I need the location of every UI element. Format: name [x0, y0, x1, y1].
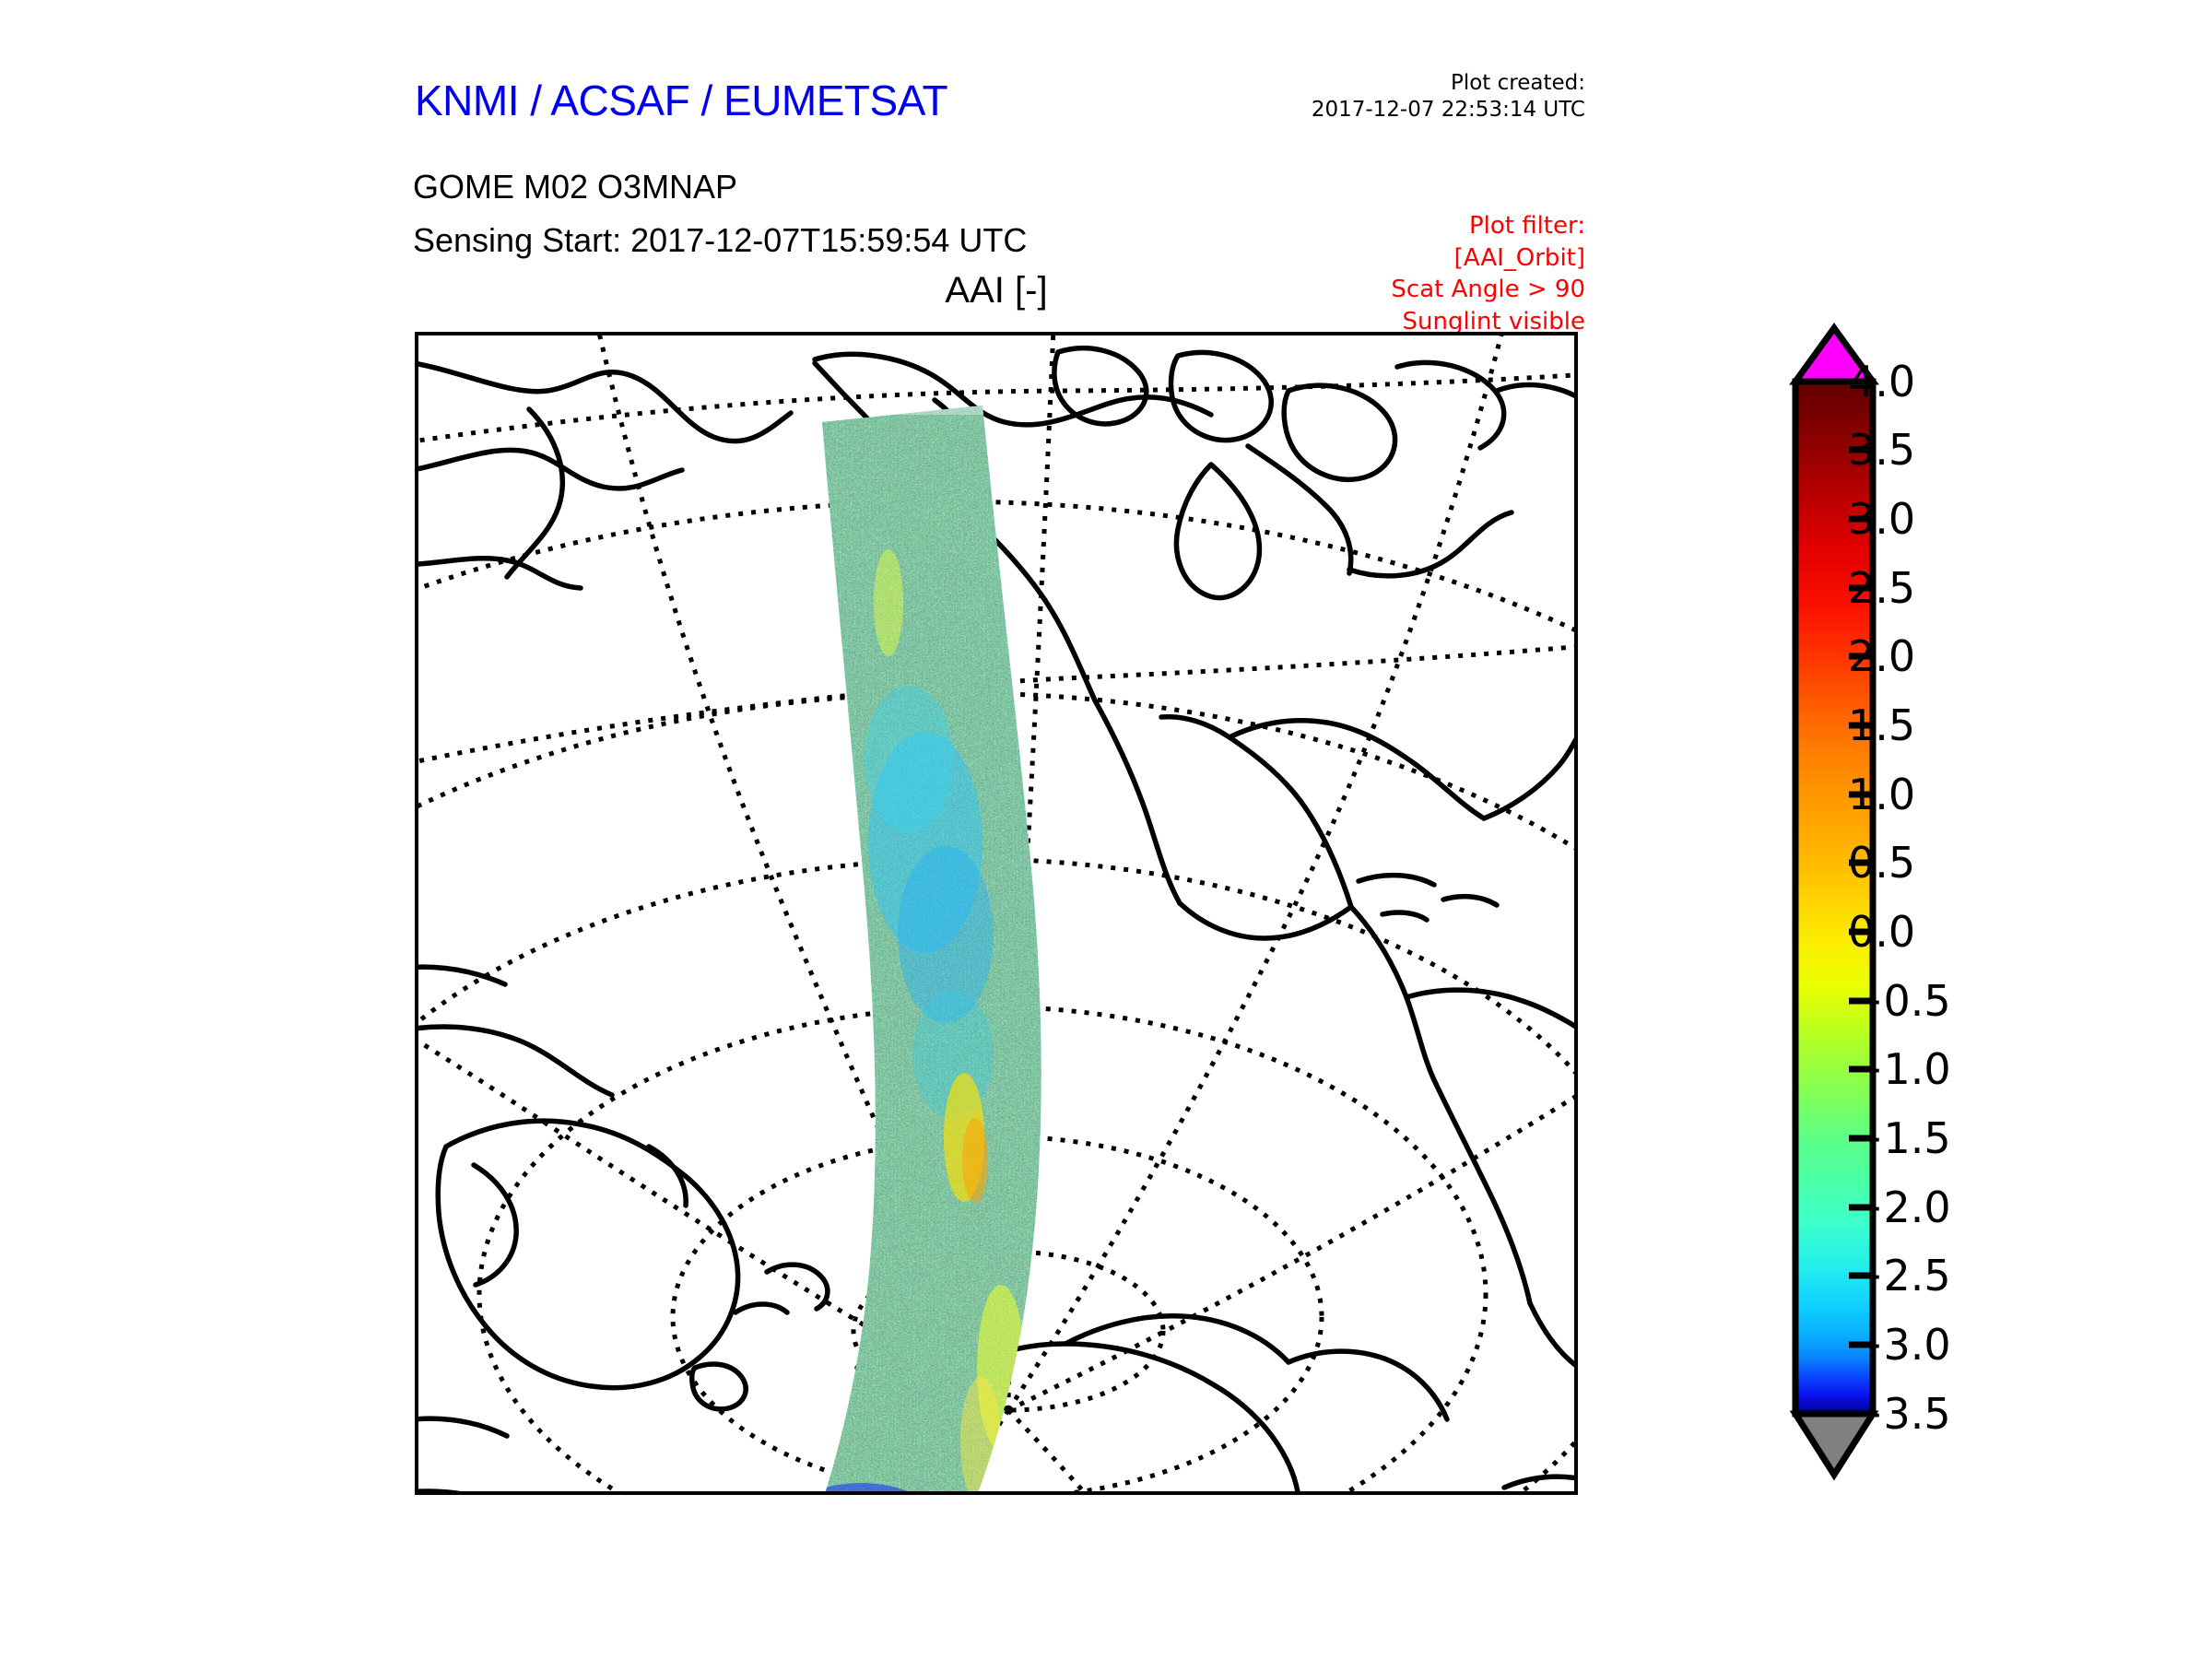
- plot-created-value: 2017-12-07 22:53:14 UTC: [1312, 97, 1585, 124]
- coastline-antarctic-peninsula: [1288, 1351, 1447, 1419]
- colorbar-tick-label: −1.5: [1848, 1113, 1951, 1163]
- coastline-labrador: [1349, 512, 1512, 576]
- map-contents: [418, 335, 1574, 1491]
- coastline-new-zealand-north: [767, 1265, 828, 1309]
- page-title: AAI [-]: [415, 270, 1578, 312]
- colorbar-tick-label: 2.5: [1848, 563, 1915, 613]
- coastline-arctic-island: [1054, 348, 1147, 424]
- colorbar-tick-label: 0.5: [1848, 838, 1915, 888]
- coastline-southern-island-3: [1504, 1477, 1574, 1488]
- coastline-arctic-island: [1171, 352, 1272, 440]
- colorbar-tick-label: 2.0: [1848, 631, 1915, 681]
- coastline-tasmania: [692, 1364, 746, 1409]
- coastline-new-zealand-south: [735, 1304, 787, 1312]
- coastline-central-america: [1180, 903, 1351, 938]
- coastline-greenland-north: [1397, 362, 1504, 448]
- colorbar-tick-label: 3.5: [1848, 425, 1915, 475]
- colorbar-tick-label: 1.5: [1848, 700, 1915, 750]
- graticule-meridian: [1008, 1410, 1172, 1491]
- coastline-northeast-island: [1497, 385, 1574, 470]
- colorbar-tick-label: −2.0: [1848, 1182, 1951, 1232]
- coastline-patagonia-west: [1530, 1303, 1574, 1370]
- colorbar-tick-labels: 4.0 3.5 3.0 2.5 2.0 1.5 1.0 0.5 0.0 −0.5…: [1848, 323, 2051, 1539]
- figure-canvas: KNMI / ACSAF / EUMETSAT Plot created: 20…: [0, 0, 2212, 1659]
- coastline-cuba: [1359, 876, 1434, 885]
- plot-filter-orbit: [AAI_Orbit]: [1391, 242, 1585, 275]
- colorbar-tick-label: −0.5: [1848, 976, 1951, 1026]
- coastline-greenland: [1284, 385, 1394, 479]
- graticule-parallel: [418, 372, 1574, 446]
- colorbar-tick-label: 1.0: [1848, 770, 1915, 819]
- colorbar-tick-label: −3.5: [1848, 1389, 1951, 1439]
- coastline-alaska: [418, 359, 791, 441]
- colorbar-tick-label: 4.0: [1848, 357, 1915, 406]
- plot-created-block: Plot created: 2017-12-07 22:53:14 UTC: [1312, 70, 1585, 124]
- coastline-hudson-bay: [1176, 465, 1259, 598]
- colorbar-tick-label: −2.5: [1848, 1251, 1951, 1300]
- organization-title: KNMI / ACSAF / EUMETSAT: [415, 76, 947, 125]
- map-plot-area[interactable]: [415, 332, 1578, 1495]
- plot-created-label: Plot created:: [1312, 70, 1585, 97]
- coastline-ne-us: [1484, 697, 1574, 818]
- map-svg: [418, 335, 1574, 1491]
- coastline-caribbean-island: [1382, 912, 1427, 920]
- graticule-meridian: [1008, 1038, 1574, 1410]
- colorbar-tick-label: −3.0: [1848, 1320, 1951, 1370]
- sensing-start: Sensing Start: 2017-12-07T15:59:54 UTC: [413, 221, 1027, 260]
- colorbar-tick-label: 3.0: [1848, 494, 1915, 544]
- coastline-sa-north: [1406, 990, 1574, 1060]
- coastline-antarctica-north: [1065, 1316, 1288, 1362]
- swath-noise-layer: [796, 391, 1082, 1491]
- coastline-baffin: [1248, 446, 1351, 573]
- graticule-meridian: [1008, 335, 1506, 1410]
- colorbar-tick-label: 0.0: [1848, 907, 1915, 957]
- product-name: GOME M02 O3MNAP: [413, 168, 737, 206]
- coastline-hispaniola: [1443, 897, 1497, 905]
- coastline-aleutian: [418, 450, 682, 488]
- colorbar-tick-label: −1.0: [1848, 1044, 1951, 1094]
- aai-swath: [796, 391, 1082, 1491]
- coastline-indonesia: [418, 967, 505, 984]
- plot-filter-label: Plot filter:: [1391, 210, 1585, 242]
- coastline-peninsula: [507, 409, 562, 577]
- coastline-island-south: [418, 1418, 507, 1436]
